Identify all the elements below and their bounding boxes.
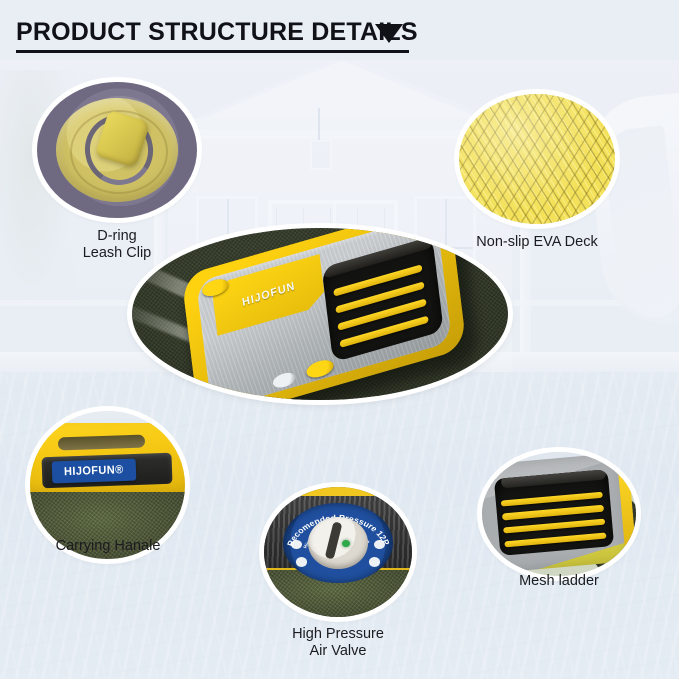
mesh-ladder-rung xyxy=(502,505,605,520)
mesh-ladder-photo-bubble xyxy=(482,452,636,576)
callout-caption-air-valve: High Pressure Air Valve xyxy=(249,626,427,660)
board-brand-text: HIJOFUN xyxy=(241,281,296,310)
page-title: PRODUCT STRUCTURE DETAILS xyxy=(16,18,418,47)
valve-yellow-trim-top xyxy=(264,487,412,496)
carrying-handle-photo: HIJOFUN® xyxy=(30,411,185,559)
callout-caption-mesh-ladder: Mesh ladder xyxy=(478,573,640,590)
triangle-down-icon xyxy=(375,24,403,43)
callout-caption-carrying-handle: Carrying Hanale xyxy=(17,538,199,555)
eva-highlight xyxy=(459,94,615,224)
eva-deck-photo xyxy=(459,94,615,224)
mesh-ladder-rung xyxy=(503,519,606,534)
d-ring-photo xyxy=(37,82,197,218)
callout-caption-eva-deck: Non-slip EVA Deck xyxy=(452,234,622,251)
header-bar: PRODUCT STRUCTURE DETAILS xyxy=(0,0,679,60)
mesh-ladder-photo xyxy=(482,452,636,576)
mesh-ladder-rung xyxy=(504,533,607,548)
title-underline xyxy=(16,50,409,53)
handle-brand-label: HIJOFUN® xyxy=(51,458,135,483)
board-air-valve xyxy=(272,371,295,390)
d-ring-photo-bubble xyxy=(37,82,197,218)
callout-caption-d-ring: D-ring Leash Clip xyxy=(14,228,220,262)
mesh-ladder-well xyxy=(494,469,614,556)
valve-cap xyxy=(308,517,367,569)
handle-brand-text: HIJOFUN® xyxy=(64,464,124,479)
eva-deck-photo-bubble xyxy=(459,94,615,224)
infographic-canvas: PRODUCT STRUCTURE DETAILS HIJOFUN xyxy=(0,0,679,679)
board-ladder-well xyxy=(321,236,443,362)
mesh-ladder-rung xyxy=(501,492,604,507)
carrying-handle-photo-bubble: HIJOFUN® xyxy=(30,411,185,559)
air-valve-photo: Recomended Pressure 12PSI High pressure … xyxy=(264,487,412,617)
air-valve-photo-bubble: Recomended Pressure 12PSI High pressure … xyxy=(264,487,412,617)
